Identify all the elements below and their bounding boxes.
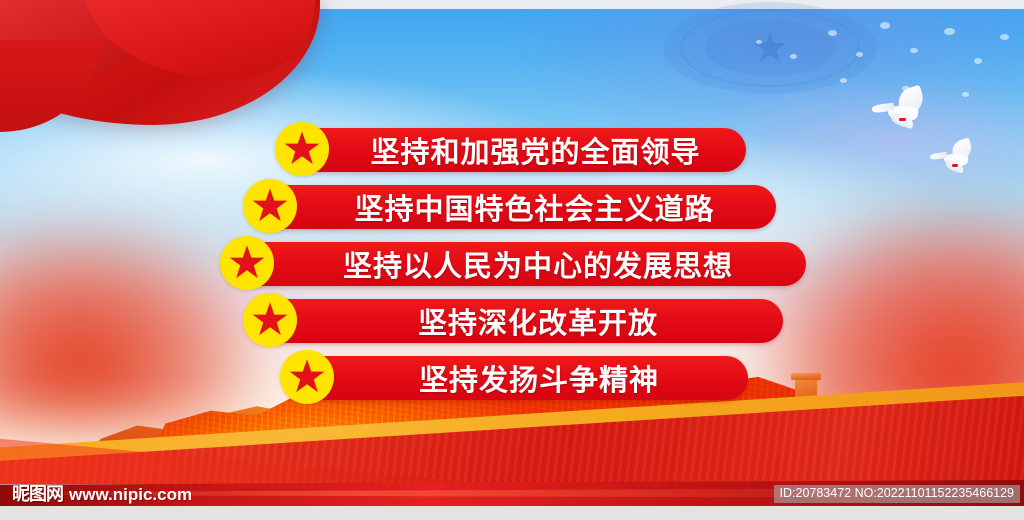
star-shape: [252, 302, 288, 338]
slogan-text-1: 坚持和加强党的全面领导: [291, 128, 746, 172]
slogan-banner-4[interactable]: 坚持深化改革开放: [259, 299, 783, 343]
slogan-banner-list: 坚持和加强党的全面领导 坚持中国特色社会主义道路 坚持以人民为中心的发展思想 坚…: [0, 0, 1024, 470]
star-badge-icon: [220, 236, 274, 290]
slogan-banner-2[interactable]: 坚持中国特色社会主义道路: [259, 185, 776, 229]
slogan-banner-5[interactable]: 坚持发扬斗争精神: [296, 356, 748, 400]
star-badge-icon: [243, 293, 297, 347]
watermark-brand: 昵图网 www.nipic.com: [12, 482, 192, 506]
slogan-banner-1[interactable]: 坚持和加强党的全面领导: [291, 128, 746, 172]
slogan-text-5: 坚持发扬斗争精神: [296, 356, 748, 400]
star-badge-icon: [243, 179, 297, 233]
star-badge-icon: [275, 122, 329, 176]
watermark-id-text: ID:20783472 NO:20221101152235466129: [774, 485, 1020, 503]
star-shape: [229, 245, 265, 281]
poster-canvas: 坚持和加强党的全面领导 坚持中国特色社会主义道路 坚持以人民为中心的发展思想 坚…: [0, 0, 1024, 520]
watermark-bar: 昵图网 www.nipic.com ID:20783472 NO:2022110…: [0, 484, 1024, 520]
star-shape: [284, 131, 320, 167]
slogan-text-4: 坚持深化改革开放: [259, 299, 783, 343]
star-badge-icon: [280, 350, 334, 404]
nipic-url-text: www.nipic.com: [69, 486, 192, 503]
slogan-banner-3[interactable]: 坚持以人民为中心的发展思想: [236, 242, 806, 286]
star-shape: [252, 188, 288, 224]
star-shape: [289, 359, 325, 395]
slogan-text-3: 坚持以人民为中心的发展思想: [236, 242, 806, 286]
nipic-logo-text: 昵图网: [12, 485, 63, 503]
slogan-text-2: 坚持中国特色社会主义道路: [259, 185, 776, 229]
